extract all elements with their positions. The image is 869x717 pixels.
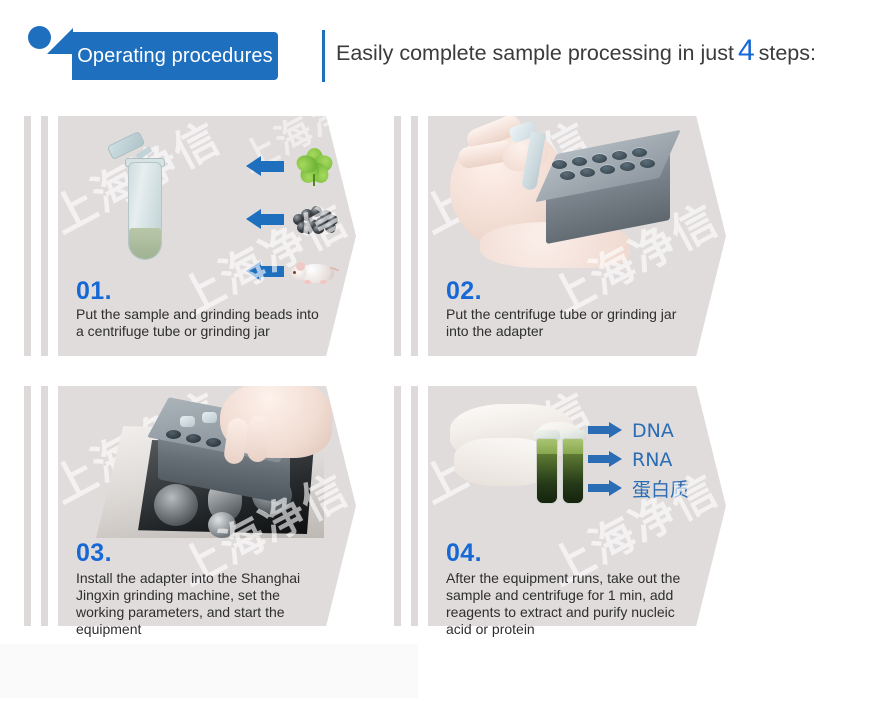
steps-grid: 上海净信 上海净信 <box>0 108 869 648</box>
tube-cap <box>560 430 586 442</box>
step-description: After the equipment runs, take out the s… <box>446 570 691 638</box>
hand <box>450 132 562 248</box>
hand <box>220 386 332 458</box>
centrifuge-tube-image <box>114 136 176 262</box>
stripe-decoration <box>411 116 418 356</box>
watermark: 上海净信 <box>58 116 230 245</box>
output-row: DNA <box>588 416 718 445</box>
tube-hinge <box>136 146 153 160</box>
output-row: RNA <box>588 445 718 474</box>
arrow-left-icon <box>246 209 284 229</box>
arrow-left-icon <box>246 261 284 281</box>
tube-rim <box>125 158 165 167</box>
badge-label: Operating procedures <box>72 32 278 80</box>
step-number: 03. <box>76 541 112 566</box>
arrow-right-icon <box>588 422 622 438</box>
step-number: 01. <box>76 279 112 304</box>
watermark: 上海净信 <box>428 386 600 515</box>
step-card-02: 上海净信 上海 <box>394 116 769 356</box>
adapter-block-front <box>546 152 670 244</box>
adapter-block-top <box>147 397 300 462</box>
step-card-01: 上海净信 上海净信 <box>24 116 399 356</box>
tagline-before: Easily complete sample processing in jus… <box>336 41 734 66</box>
adapter-block-front <box>158 419 290 505</box>
output-list: DNA RNA 蛋白质 <box>588 416 718 503</box>
arrow-right-icon <box>588 451 622 467</box>
glove-lower <box>454 438 550 486</box>
output-label: DNA <box>632 420 674 442</box>
stripe-decoration <box>411 386 418 626</box>
plant-leaf-icon <box>294 148 334 186</box>
stripe-decoration <box>24 386 31 626</box>
watermark: 上海净信 <box>428 116 600 245</box>
page-title: Easily complete sample processing in jus… <box>336 36 816 78</box>
grinding-machine-image <box>96 386 336 538</box>
step-card-04: 上海净信 DNA <box>394 386 769 626</box>
watermark: 上海净信 <box>58 386 230 515</box>
machine-housing <box>96 426 324 538</box>
tagline-after: steps: <box>759 41 816 66</box>
thumb <box>499 131 552 175</box>
page-header: Operating procedures Easily complete sam… <box>0 0 869 100</box>
sample-tube <box>562 438 584 504</box>
hand-with-adapter-block-image <box>448 118 678 268</box>
machine-rotor <box>208 482 242 522</box>
finger <box>247 416 269 463</box>
step-description: Put the sample and grinding beads into a… <box>76 306 321 340</box>
step-card-03: 上海净信 <box>24 386 399 626</box>
finger <box>464 116 524 153</box>
output-label: RNA <box>632 449 672 471</box>
sample-tube <box>536 438 558 504</box>
tube-fluid <box>129 228 161 259</box>
grinding-beads-icon <box>291 204 339 234</box>
header-divider <box>322 30 325 82</box>
laboratory-mouse-icon <box>290 256 338 286</box>
stripe-decoration <box>24 116 31 356</box>
badge-tail-shape <box>47 28 73 54</box>
step-count: 4 <box>734 36 759 66</box>
step-description: Put the centrifuge tube or grinding jar … <box>446 306 691 340</box>
glove <box>450 404 574 462</box>
operating-procedures-badge: Operating procedures <box>72 32 278 80</box>
arrow-left-icon <box>246 156 284 176</box>
glove-fingertip <box>536 422 582 456</box>
step-number: 02. <box>446 279 482 304</box>
stripe-decoration <box>394 386 401 626</box>
step-description: Install the adapter into the Shanghai Ji… <box>76 570 321 638</box>
tube-cap <box>107 131 146 160</box>
output-label: 蛋白质 <box>632 475 689 502</box>
tube-body <box>128 162 162 260</box>
arrow-right-icon <box>588 480 622 496</box>
machine-rotor-ball <box>208 512 236 538</box>
machine-cavity <box>138 440 314 534</box>
stripe-decoration <box>41 386 48 626</box>
adapter-block-top <box>535 130 680 202</box>
step-number: 04. <box>446 541 482 566</box>
sample-tube <box>521 131 546 191</box>
tube-cap <box>508 120 538 143</box>
finger <box>223 417 249 465</box>
stripe-decoration <box>41 116 48 356</box>
bottom-background-wash <box>0 644 418 698</box>
finger <box>457 139 516 169</box>
palm <box>480 222 630 268</box>
output-row: 蛋白质 <box>588 474 718 503</box>
tube-cap <box>534 430 560 442</box>
stripe-decoration <box>394 116 401 356</box>
